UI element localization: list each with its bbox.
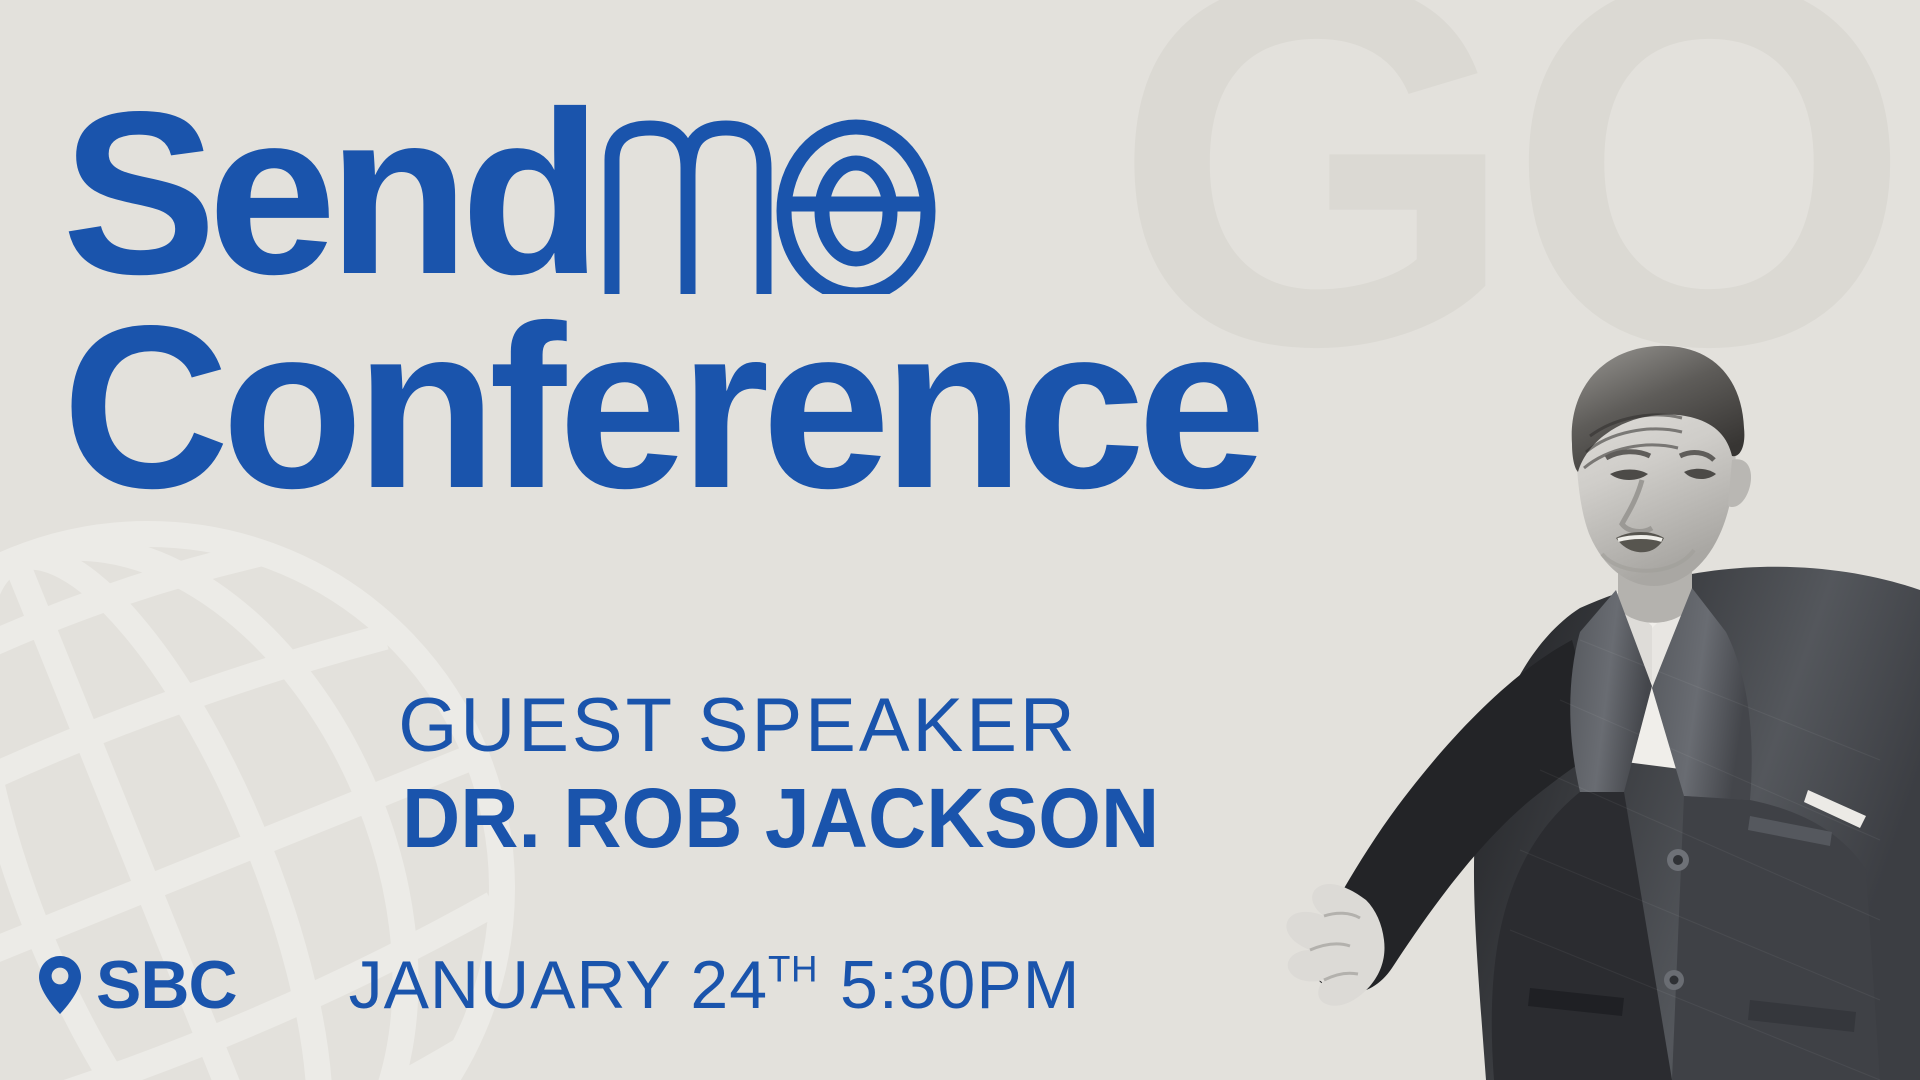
date-month-day: JANUARY 24 (349, 947, 768, 1023)
headline-line-2: Conference (62, 292, 1258, 524)
venue-group: SBC (38, 951, 237, 1019)
send-me-conference-poster: GO (0, 0, 1920, 1080)
speaker-name: DR. ROB JACKSON (402, 776, 1074, 860)
headline-word-send: Send (62, 78, 593, 310)
footer-row: SBC JANUARY 24TH5:30PM (38, 940, 1080, 1030)
guest-speaker-photo (1280, 340, 1920, 1080)
speaker-block: GUEST SPEAKER DR. ROB JACKSON (388, 688, 1088, 860)
headline: Send Conference (62, 78, 1258, 524)
headline-word-me-outline (594, 116, 942, 294)
date-ordinal-suffix: TH (768, 949, 818, 990)
headline-line-1: Send (62, 78, 1258, 288)
location-pin-icon (38, 955, 82, 1015)
event-time: 5:30PM (840, 947, 1080, 1023)
venue-label: SBC (96, 951, 237, 1019)
date-time-label: JANUARY 24TH5:30PM (349, 951, 1081, 1019)
headline-word-conference: Conference (62, 292, 1258, 524)
guest-speaker-label: GUEST SPEAKER (388, 688, 1088, 764)
me-outline-glyphs (594, 116, 942, 294)
